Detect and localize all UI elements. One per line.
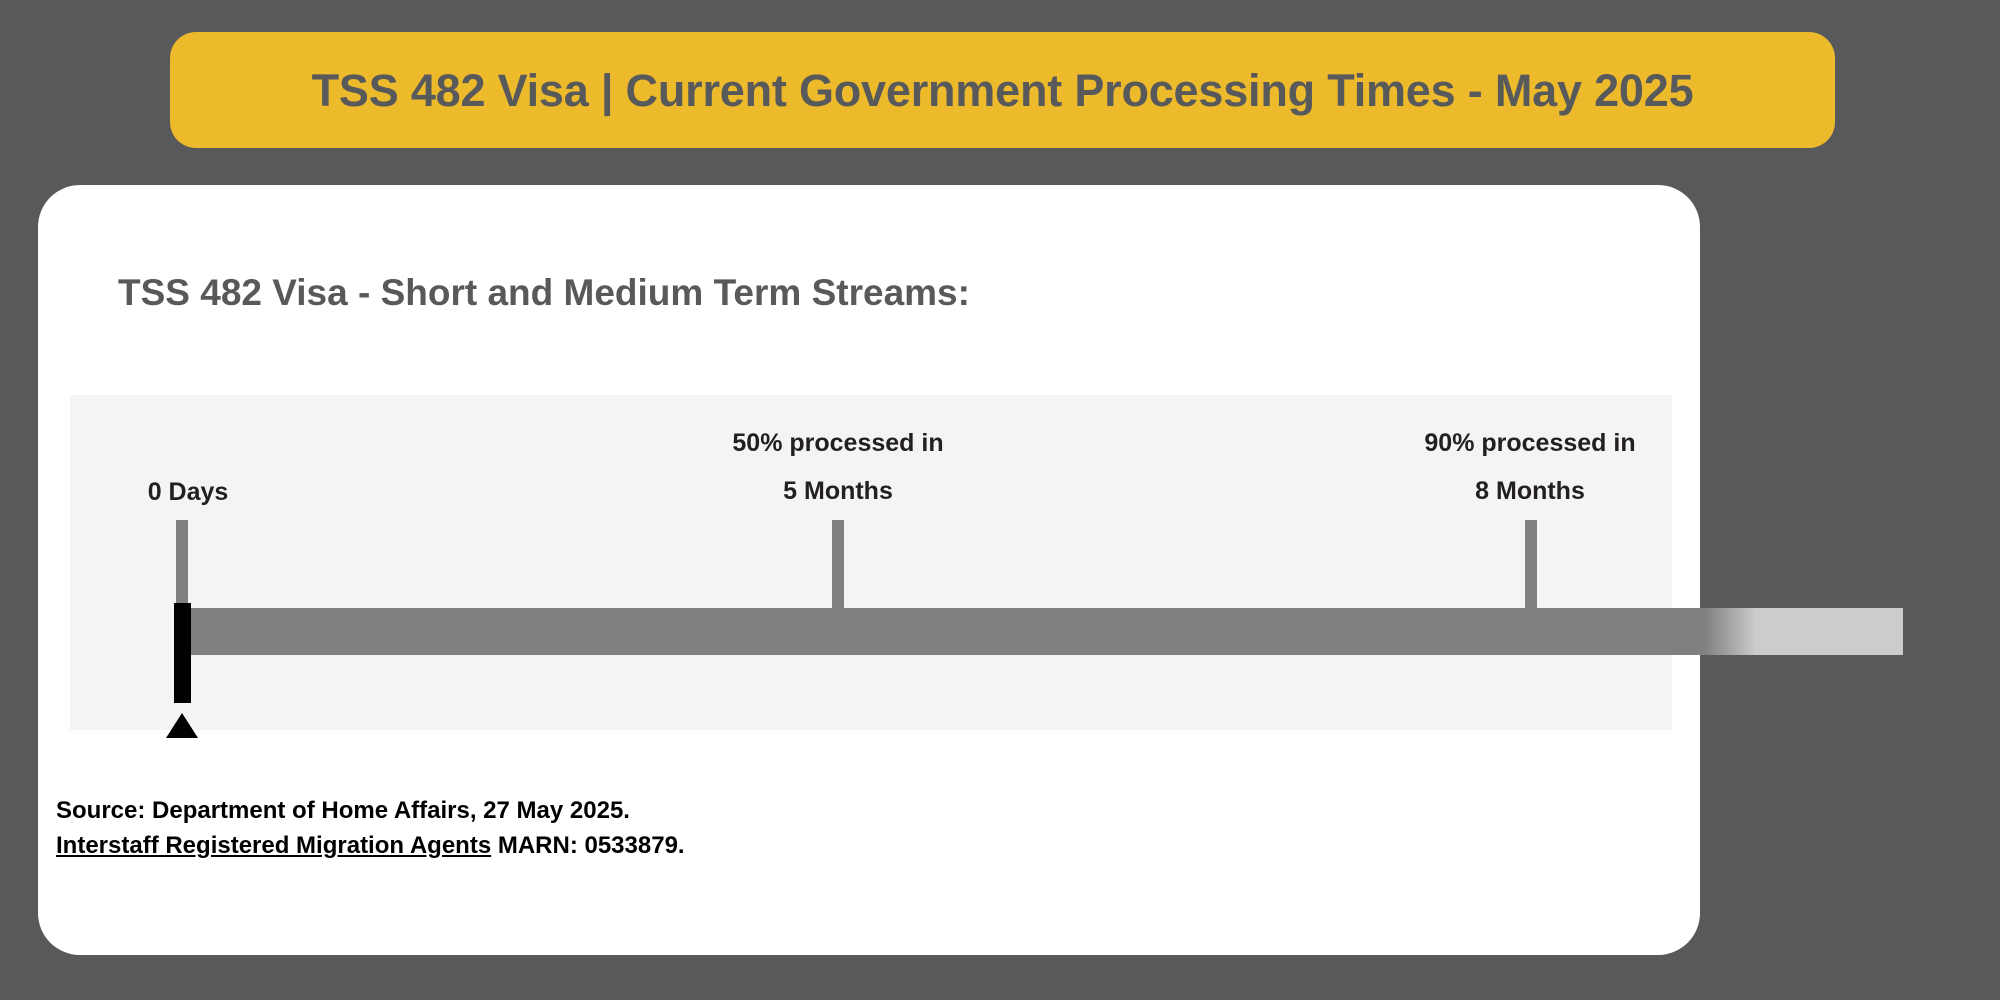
current-position-marker <box>174 603 191 703</box>
page-title: TSS 482 Visa | Current Government Proces… <box>312 68 1694 113</box>
current-position-pointer-icon <box>166 713 198 738</box>
page-title-banner: TSS 482 Visa | Current Government Proces… <box>170 32 1835 148</box>
timeline-marker-p50-label-percent: 50% processed in <box>688 428 988 459</box>
marn-number: MARN: 0533879. <box>491 832 684 859</box>
timeline-marker-p90-tick <box>1525 520 1537 610</box>
source-note: Source: Department of Home Affairs, 27 M… <box>56 793 685 863</box>
timeline-marker-p50-label-value: 5 Months <box>688 476 988 507</box>
content-card: TSS 482 Visa - Short and Medium Term Str… <box>38 185 1700 955</box>
source-line-2: Interstaff Registered Migration Agents M… <box>56 828 685 863</box>
timeline-marker-start-tick <box>176 520 188 610</box>
timeline-chart-panel: 0 Days 50% processed in 5 Months 90% pro… <box>70 395 1672 730</box>
timeline-marker-start-label: 0 Days <box>118 477 258 508</box>
interstaff-link[interactable]: Interstaff Registered Migration Agents <box>56 832 491 859</box>
timeline-marker-p50-tick <box>832 520 844 610</box>
timeline-marker-p90-label-value: 8 Months <box>1380 476 1680 507</box>
processing-time-bar <box>178 608 1903 655</box>
timeline-marker-p90-label-percent: 90% processed in <box>1380 428 1680 459</box>
chart-title: TSS 482 Visa - Short and Medium Term Str… <box>118 274 970 311</box>
source-line-1: Source: Department of Home Affairs, 27 M… <box>56 793 685 828</box>
